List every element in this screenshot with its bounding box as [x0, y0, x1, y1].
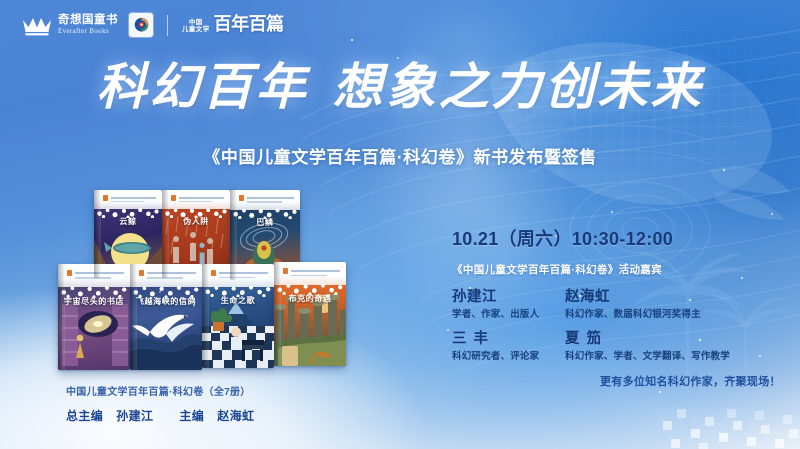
guest-entry: 孙建江 学者、作家、出版人 — [452, 289, 565, 320]
guest-role: 科幻研究者、评论家 — [452, 351, 565, 362]
guest-name: 三丰 — [452, 331, 565, 348]
book-spine — [94, 190, 101, 278]
book-cover[interactable]: 布克的奇遇 — [274, 262, 346, 366]
more-guests-note: 更有多位知名科幻作家，齐聚现场！ — [600, 373, 781, 389]
guest-role: 学者、作家、出版人 — [452, 309, 565, 320]
band-dot-icon — [171, 195, 176, 201]
guest-name: 赵海虹 — [565, 289, 792, 306]
series-caption-editors: 总主编孙建江主编赵海虹 — [66, 407, 254, 424]
title-part-1: 科幻百年 — [97, 58, 309, 116]
book-spine — [58, 264, 65, 370]
band-line-secondary — [219, 277, 255, 279]
guest-role: 科幻作家、数届科幻银河奖得主 — [565, 309, 792, 320]
book-title: 生命之歌 — [202, 295, 274, 306]
book-title: 巴鳞 — [230, 217, 300, 228]
guest-entry: 夏笳 科幻作家、学者、文学翻译、写作教学 — [565, 331, 792, 362]
band-line-secondary — [291, 275, 327, 277]
event-info-block: 10.21（周六）10:30-12:00 《中国儿童文学百年百篇·科幻卷》活动嘉… — [452, 225, 792, 362]
title-part-2: 想象之力创未来 — [333, 58, 704, 116]
band-line — [111, 197, 156, 199]
series-logo[interactable]: 中国 儿童文学 百年百篇 — [182, 16, 284, 34]
chief-editor-name: 孙建江 — [116, 409, 153, 423]
band-line-secondary — [247, 201, 282, 203]
guest-entry: 赵海虹 科幻作家、数届科幻银河奖得主 — [565, 289, 792, 320]
book-cover[interactable]: 飞越海峡的信鸽 — [130, 264, 202, 370]
seal-emblem-icon — [133, 17, 150, 34]
publisher-name-cn: 奇想国童书 — [58, 15, 118, 27]
guest-list: 孙建江 学者、作家、出版人 赵海虹 科幻作家、数届科幻银河奖得主 三丰 科幻研究… — [452, 289, 792, 362]
band-line — [291, 270, 340, 272]
guest-name: 夏笳 — [565, 331, 792, 348]
guest-name: 孙建江 — [452, 289, 565, 306]
publisher-logo[interactable]: 奇想国童书 Everafter Books — [22, 15, 118, 36]
poster-canvas: 奇想国童书 Everafter Books 中国 儿童文学 百年百篇 科幻百年想… — [0, 0, 800, 449]
band-dot-icon — [283, 268, 288, 274]
guest-entry: 三丰 科幻研究者、评论家 — [452, 331, 565, 362]
book-title: 布克的奇遇 — [274, 293, 346, 304]
crown-icon — [22, 15, 52, 36]
series-logo-main-text: 百年百篇 — [214, 16, 284, 34]
editor-name: 赵海虹 — [217, 409, 254, 423]
editor-label: 主编 — [179, 409, 204, 423]
guest-role: 科幻作家、学者、文学翻译、写作教学 — [565, 351, 792, 362]
page-subtitle: 《中国儿童文学百年百篇·科幻卷》新书发布暨签售 — [0, 143, 800, 168]
band-line-secondary — [111, 201, 144, 203]
chief-editor-label: 总主编 — [66, 409, 103, 423]
book-title: 云鲸 — [94, 216, 162, 227]
award-seal-icon[interactable] — [129, 13, 153, 37]
band-dot-icon — [139, 270, 144, 276]
band-line — [147, 272, 196, 274]
series-caption: 中国儿童文学百年百篇·科幻卷（全7册） 总主编孙建江主编赵海虹 — [66, 383, 254, 424]
book-spine — [130, 264, 137, 370]
band-line — [179, 197, 224, 199]
book-cover[interactable]: 宇宙尽头的书店 — [58, 264, 130, 370]
series-caption-title: 中国儿童文学百年百篇·科幻卷（全7册） — [66, 383, 254, 398]
book-title: 宇宙尽头的书店 — [58, 296, 130, 307]
band-dot-icon — [67, 270, 72, 276]
publisher-name-en: Everafter Books — [58, 28, 118, 35]
book-cover[interactable]: 生命之歌 — [202, 264, 274, 368]
header-logo-bar: 奇想国童书 Everafter Books 中国 儿童文学 百年百篇 — [22, 13, 284, 37]
book-spine — [274, 262, 281, 366]
band-line-secondary — [179, 201, 212, 203]
book-spine — [202, 264, 209, 368]
page-title: 科幻百年想象之力创未来 — [0, 62, 800, 112]
book-title: 飞越海峡的信鸽 — [130, 296, 202, 307]
logo-divider — [167, 15, 168, 36]
guests-heading: 《中国儿童文学百年百篇·科幻卷》活动嘉宾 — [452, 262, 792, 277]
band-dot-icon — [103, 195, 108, 201]
event-datetime: 10.21（周六）10:30-12:00 — [452, 225, 792, 251]
band-dot-icon — [211, 270, 216, 276]
band-dot-icon — [239, 195, 244, 201]
book-spine — [230, 190, 237, 280]
book-title: 伪人阱 — [162, 216, 230, 227]
band-line — [247, 197, 294, 199]
book-cover-collection: 云鲸 — [58, 186, 328, 376]
band-line — [219, 272, 268, 274]
book-spine — [162, 190, 169, 278]
series-logo-small-text: 中国 儿童文学 — [182, 20, 210, 34]
